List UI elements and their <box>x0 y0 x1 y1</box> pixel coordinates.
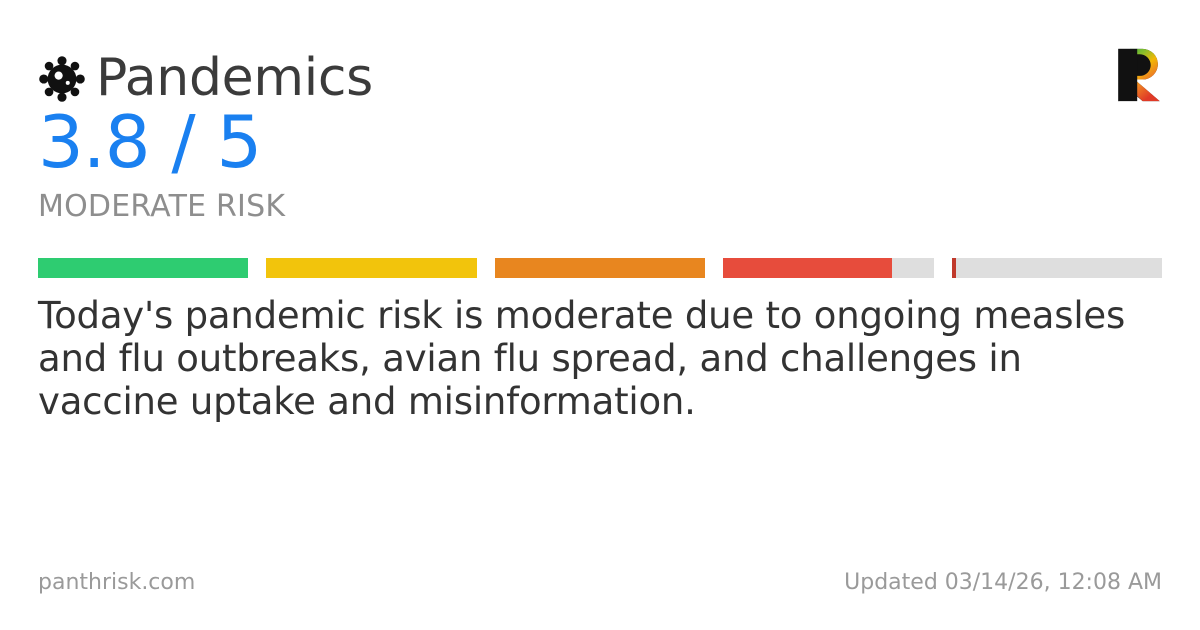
gauge-segment-fill <box>38 258 248 278</box>
footer: panthrisk.com Updated 03/14/26, 12:08 AM <box>38 572 1162 594</box>
gauge-segment-fill <box>952 258 956 278</box>
virus-icon <box>38 55 86 103</box>
gauge-segment <box>952 258 1162 278</box>
risk-gauge <box>38 258 1162 278</box>
page-title: Pandemics <box>96 52 373 104</box>
risk-card: Pandemics 3.8 / 5 MODERATE RISK <box>0 0 1200 630</box>
gauge-segment <box>495 258 705 278</box>
updated-timestamp: Updated 03/14/26, 12:08 AM <box>844 572 1162 594</box>
gauge-segment-fill <box>266 258 476 278</box>
gauge-segment-fill <box>723 258 891 278</box>
risk-description: Today's pandemic risk is moderate due to… <box>38 294 1158 423</box>
site-url[interactable]: panthrisk.com <box>38 572 195 594</box>
gauge-segment <box>38 258 248 278</box>
panthrisk-logo-icon <box>1116 48 1162 102</box>
risk-level-label: MODERATE RISK <box>38 192 285 222</box>
gauge-segment-fill <box>495 258 705 278</box>
gauge-segment <box>266 258 476 278</box>
risk-score: 3.8 / 5 <box>38 106 261 178</box>
gauge-segment <box>723 258 933 278</box>
